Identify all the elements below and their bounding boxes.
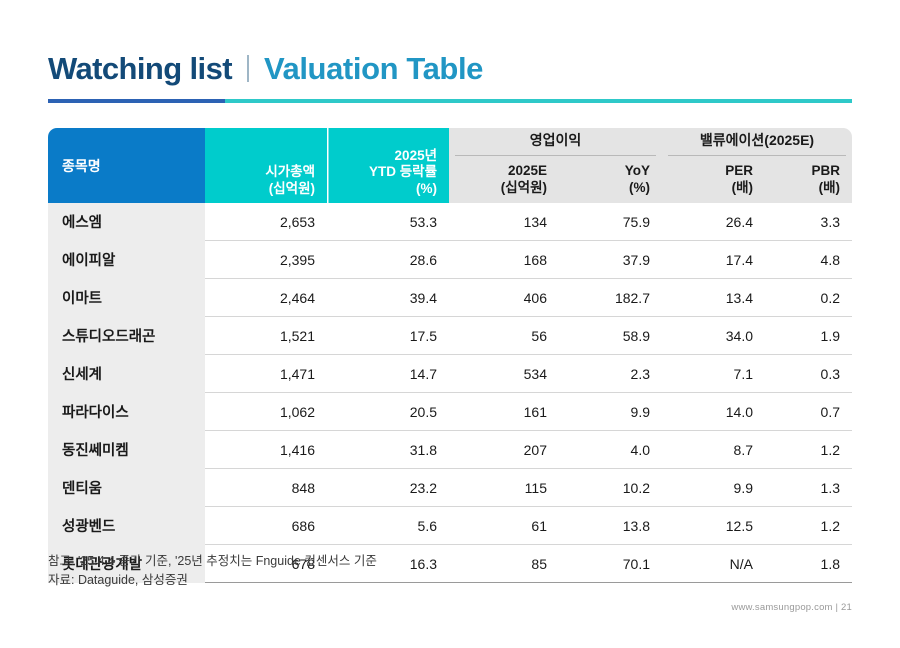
- cell-operating-profit-yoy: 4.0: [559, 431, 662, 469]
- cell-stock-name: 성광벤드: [48, 507, 205, 545]
- cell-ytd-return: 31.8: [327, 431, 449, 469]
- page-title: Watching list Valuation Table: [48, 52, 483, 84]
- cell-operating-profit-2025e: 168: [449, 241, 559, 279]
- cell-stock-name: 동진쎄미켐: [48, 431, 205, 469]
- header-market-cap-line2: (십억원): [269, 181, 315, 196]
- footnote-note: 참고: '25.4.4 종가 기준, '25년 추정치는 Fnguide 컨센서…: [48, 552, 377, 571]
- table-footnotes: 참고: '25.4.4 종가 기준, '25년 추정치는 Fnguide 컨센서…: [48, 552, 377, 591]
- cell-per: 12.5: [662, 507, 765, 545]
- cell-operating-profit-2025e: 406: [449, 279, 559, 317]
- cell-pbr: 0.7: [765, 393, 852, 431]
- cell-pbr: 1.2: [765, 431, 852, 469]
- header-yoy-line1: YoY: [625, 163, 650, 178]
- cell-per: 34.0: [662, 317, 765, 355]
- header-group-valuation-label: 밸류에이션(2025E): [668, 130, 846, 156]
- header-ytd-line3: (%): [416, 181, 437, 196]
- header-op-line2: (십억원): [501, 180, 547, 195]
- cell-stock-name: 파라다이스: [48, 393, 205, 431]
- cell-stock-name: 스튜디오드래곤: [48, 317, 205, 355]
- title-rule-blue-segment: [48, 99, 225, 103]
- header-per-line2: (배): [732, 180, 753, 195]
- cell-operating-profit-2025e: 56: [449, 317, 559, 355]
- cell-stock-name: 이마트: [48, 279, 205, 317]
- header-cell-pbr: PBR (배): [765, 159, 852, 203]
- header-per-line1: PER: [725, 163, 753, 178]
- cell-operating-profit-yoy: 13.8: [559, 507, 662, 545]
- table-row[interactable]: 성광벤드6865.66113.812.51.2: [48, 507, 852, 545]
- header-pbr-line1: PBR: [811, 163, 840, 178]
- cell-ytd-return: 39.4: [327, 279, 449, 317]
- cell-operating-profit-2025e: 207: [449, 431, 559, 469]
- title-sub-text: Valuation Table: [264, 53, 483, 84]
- table-row[interactable]: 덴티움84823.211510.29.91.3: [48, 469, 852, 507]
- title-separator: [247, 55, 249, 82]
- cell-ytd-return: 17.5: [327, 317, 449, 355]
- cell-market-cap: 1,521: [205, 317, 327, 355]
- cell-ytd-return: 23.2: [327, 469, 449, 507]
- cell-ytd-return: 5.6: [327, 507, 449, 545]
- cell-pbr: 1.9: [765, 317, 852, 355]
- page-footer: www.samsungpop.com | 21: [731, 602, 852, 613]
- cell-operating-profit-yoy: 75.9: [559, 203, 662, 241]
- table-row[interactable]: 신세계1,47114.75342.37.10.3: [48, 355, 852, 393]
- cell-operating-profit-2025e: 534: [449, 355, 559, 393]
- cell-stock-name: 덴티움: [48, 469, 205, 507]
- header-pbr-line2: (배): [819, 180, 840, 195]
- header-ytd-line1: 2025년: [395, 148, 437, 163]
- header-cell-op-yoy: YoY (%): [559, 159, 662, 203]
- cell-stock-name: 에스엠: [48, 203, 205, 241]
- header-yoy-line2: (%): [629, 180, 650, 195]
- header-cell-name: 종목명: [48, 128, 205, 203]
- cell-ytd-return: 20.5: [327, 393, 449, 431]
- cell-pbr: 0.2: [765, 279, 852, 317]
- cell-pbr: 1.2: [765, 507, 852, 545]
- cell-ytd-return: 28.6: [327, 241, 449, 279]
- cell-per: 7.1: [662, 355, 765, 393]
- table-row[interactable]: 에스엠2,65353.313475.926.43.3: [48, 203, 852, 241]
- table-row[interactable]: 동진쎄미켐1,41631.82074.08.71.2: [48, 431, 852, 469]
- cell-stock-name: 신세계: [48, 355, 205, 393]
- title-rule-teal-segment: [225, 99, 852, 103]
- cell-ytd-return: 53.3: [327, 203, 449, 241]
- cell-operating-profit-2025e: 115: [449, 469, 559, 507]
- cell-market-cap: 1,062: [205, 393, 327, 431]
- cell-per: 26.4: [662, 203, 765, 241]
- table-row[interactable]: 이마트2,46439.4406182.713.40.2: [48, 279, 852, 317]
- cell-per: 13.4: [662, 279, 765, 317]
- cell-operating-profit-yoy: 58.9: [559, 317, 662, 355]
- table-header-group-row: 종목명 시가총액 (십억원) 2025년 YTD 등락률 (%) 영업이익 밸류…: [48, 128, 852, 159]
- cell-ytd-return: 14.7: [327, 355, 449, 393]
- table-row[interactable]: 스튜디오드래곤1,52117.55658.934.01.9: [48, 317, 852, 355]
- cell-per: 17.4: [662, 241, 765, 279]
- cell-per: 8.7: [662, 431, 765, 469]
- cell-operating-profit-yoy: 37.9: [559, 241, 662, 279]
- cell-operating-profit-2025e: 85: [449, 545, 559, 583]
- valuation-table-container: 종목명 시가총액 (십억원) 2025년 YTD 등락률 (%) 영업이익 밸류…: [48, 128, 852, 583]
- cell-pbr: 1.8: [765, 545, 852, 583]
- cell-operating-profit-2025e: 61: [449, 507, 559, 545]
- cell-operating-profit-yoy: 9.9: [559, 393, 662, 431]
- cell-per: N/A: [662, 545, 765, 583]
- footnote-source: 자료: Dataguide, 삼성증권: [48, 571, 377, 590]
- cell-operating-profit-2025e: 134: [449, 203, 559, 241]
- header-group-operating-profit: 영업이익: [449, 128, 662, 159]
- table-header: 종목명 시가총액 (십억원) 2025년 YTD 등락률 (%) 영업이익 밸류…: [48, 128, 852, 203]
- cell-pbr: 0.3: [765, 355, 852, 393]
- cell-market-cap: 1,416: [205, 431, 327, 469]
- title-underline-rule: [48, 99, 852, 103]
- header-cell-market-cap: 시가총액 (십억원): [205, 128, 327, 203]
- title-main-text: Watching list: [48, 53, 232, 84]
- table-row[interactable]: 에이피알2,39528.616837.917.44.8: [48, 241, 852, 279]
- header-group-valuation: 밸류에이션(2025E): [662, 128, 852, 159]
- cell-market-cap: 848: [205, 469, 327, 507]
- cell-pbr: 3.3: [765, 203, 852, 241]
- cell-per: 14.0: [662, 393, 765, 431]
- table-row[interactable]: 파라다이스1,06220.51619.914.00.7: [48, 393, 852, 431]
- header-cell-ytd-return: 2025년 YTD 등락률 (%): [327, 128, 449, 203]
- cell-pbr: 4.8: [765, 241, 852, 279]
- header-cell-op-2025e: 2025E (십억원): [449, 159, 559, 203]
- header-group-operating-profit-label: 영업이익: [455, 130, 656, 156]
- cell-stock-name: 에이피알: [48, 241, 205, 279]
- header-op-line1: 2025E: [508, 163, 547, 178]
- cell-operating-profit-yoy: 2.3: [559, 355, 662, 393]
- cell-per: 9.9: [662, 469, 765, 507]
- cell-market-cap: 2,464: [205, 279, 327, 317]
- cell-operating-profit-yoy: 10.2: [559, 469, 662, 507]
- table-body: 에스엠2,65353.313475.926.43.3에이피알2,39528.61…: [48, 203, 852, 583]
- header-ytd-line2: YTD 등락률: [369, 164, 437, 179]
- cell-market-cap: 686: [205, 507, 327, 545]
- cell-operating-profit-2025e: 161: [449, 393, 559, 431]
- cell-pbr: 1.3: [765, 469, 852, 507]
- cell-market-cap: 2,653: [205, 203, 327, 241]
- header-market-cap-line1: 시가총액: [265, 164, 315, 179]
- cell-operating-profit-yoy: 182.7: [559, 279, 662, 317]
- header-cell-per: PER (배): [662, 159, 765, 203]
- cell-operating-profit-yoy: 70.1: [559, 545, 662, 583]
- cell-market-cap: 1,471: [205, 355, 327, 393]
- cell-market-cap: 2,395: [205, 241, 327, 279]
- valuation-table: 종목명 시가총액 (십억원) 2025년 YTD 등락률 (%) 영업이익 밸류…: [48, 128, 852, 583]
